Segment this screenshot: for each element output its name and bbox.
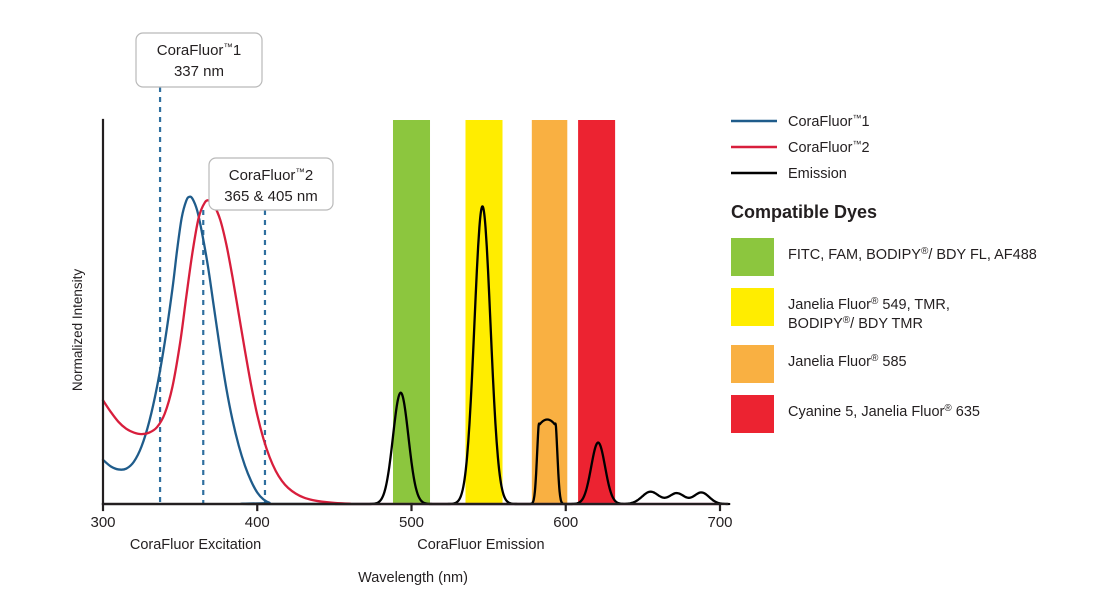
fluorescence-spectra-figure: 300400500600700CoraFluor ExcitationCoraF… bbox=[0, 0, 1110, 612]
corafluor1-excitation-callout-line2: 337 nm bbox=[174, 63, 224, 80]
compatible-dyes-heading: Compatible Dyes bbox=[731, 202, 877, 222]
corafluor2-excitation-callout-line2: 365 & 405 nm bbox=[224, 188, 317, 205]
axis-sublabel-excitation: CoraFluor Excitation bbox=[130, 537, 261, 553]
x-axis-title: Wavelength (nm) bbox=[358, 570, 468, 586]
x-tick-label-300: 300 bbox=[90, 514, 115, 531]
dye-swatch-orange bbox=[731, 345, 774, 383]
dye-swatch-yellow bbox=[731, 288, 774, 326]
dye-label-yellow-line2: BODIPY®/ BDY TMR bbox=[788, 315, 923, 332]
green-band bbox=[393, 120, 430, 504]
x-tick-label-700: 700 bbox=[707, 514, 732, 531]
legend-emission-label: Emission bbox=[788, 166, 847, 182]
dye-label-red-line1: Cyanine 5, Janelia Fluor® 635 bbox=[788, 403, 980, 420]
x-tick-label-500: 500 bbox=[399, 514, 424, 531]
x-tick-label-400: 400 bbox=[245, 514, 270, 531]
axis-sublabel-emission: CoraFluor Emission bbox=[417, 537, 544, 553]
dye-label-orange-line1: Janelia Fluor® 585 bbox=[788, 353, 907, 370]
dye-swatch-red bbox=[731, 395, 774, 433]
dye-label-green-line1: FITC, FAM, BODIPY®/ BDY FL, AF488 bbox=[788, 246, 1037, 263]
y-axis-title: Normalized Intensity bbox=[70, 269, 85, 392]
x-tick-label-600: 600 bbox=[553, 514, 578, 531]
dye-label-yellow-line1: Janelia Fluor® 549, TMR, bbox=[788, 296, 950, 313]
corafluor1-excitation-callout: CoraFluor™1337 nm bbox=[136, 33, 262, 87]
corafluor2-excitation-callout: CoraFluor™2365 & 405 nm bbox=[209, 158, 333, 210]
dye-swatch-green bbox=[731, 238, 774, 276]
